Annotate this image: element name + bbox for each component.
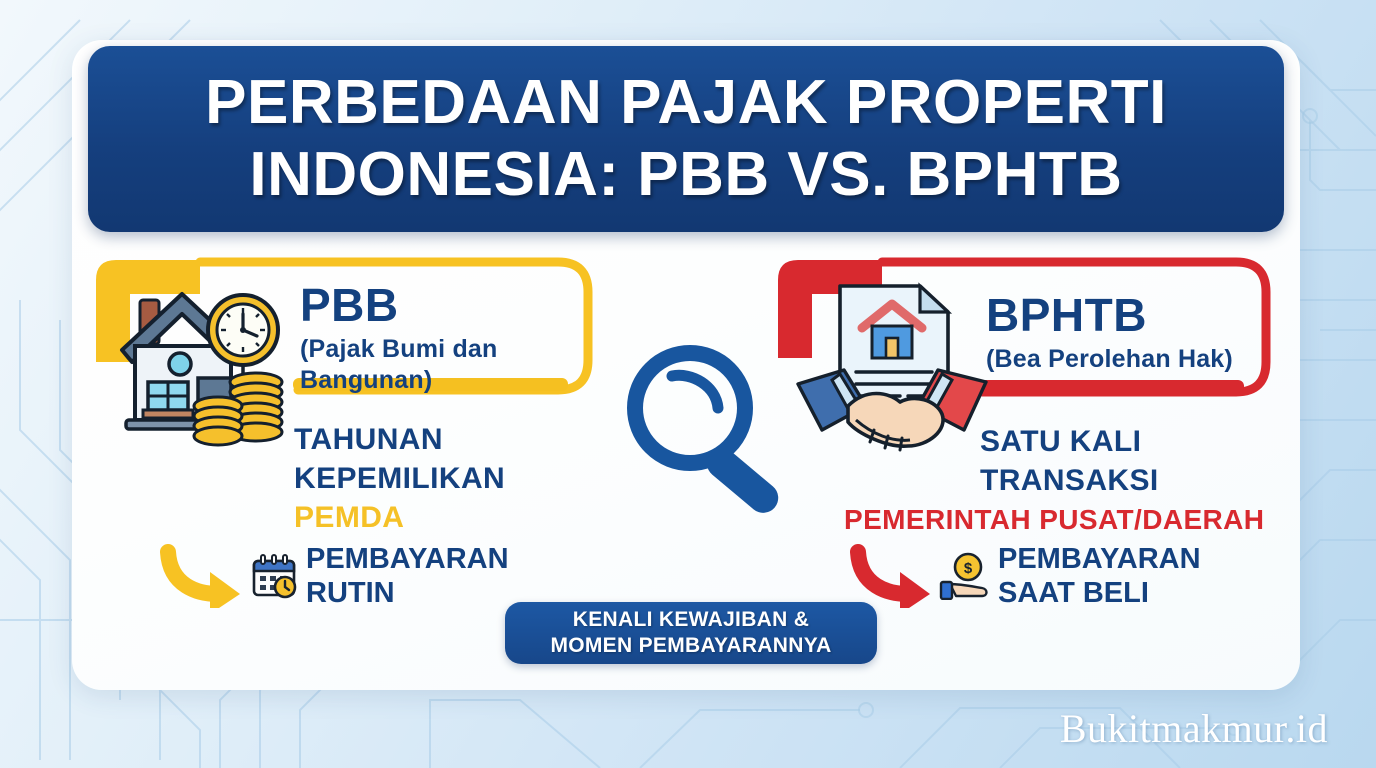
footer-badge-line-2: MOMEN PEMBAYARANNYA — [550, 633, 831, 659]
bphtb-subtitle: (Bea Perolehan Hak) — [986, 344, 1233, 375]
page-title-line-2: INDONESIA: PBB VS. BPHTB — [249, 139, 1122, 211]
pbb-column: PBB (Pajak Bumi dan Bangunan) TAHUNAN KE… — [88, 250, 618, 650]
pbb-payment-line-1: PEMBAYARAN — [306, 542, 509, 576]
pbb-subtitle: (Pajak Bumi dan Bangunan) — [300, 334, 540, 396]
footer-badge-line-1: KENALI KEWAJIBAN & — [573, 607, 809, 633]
pbb-facts-list: TAHUNAN KEPEMILIKAN PEMDA — [294, 420, 505, 537]
footer-badge: KENALI KEWAJIBAN & MOMEN PEMBAYARANNYA — [505, 602, 877, 664]
house-clock-coins-icon — [110, 272, 300, 457]
bphtb-authority: PEMERINTAH PUSAT/DAERAH — [844, 500, 1264, 539]
magnifying-glass-icon — [612, 338, 812, 513]
bphtb-payment-row: $ PEMBAYARAN SAAT BELI — [850, 542, 1201, 610]
bphtb-fact-1: TRANSAKSI — [980, 461, 1159, 500]
svg-text:$: $ — [964, 560, 973, 577]
page-title-line-1: PERBEDAAN PAJAK PROPERTI — [205, 67, 1167, 139]
pbb-fact-2: PEMDA — [294, 498, 505, 537]
bphtb-fact-2: PEMERINTAH PUSAT/DAERAH — [844, 500, 1264, 539]
hand-coin-icon: $ — [938, 552, 992, 600]
calendar-clock-icon — [250, 552, 298, 600]
watermark: Bukitmakmur.id — [1060, 705, 1328, 752]
curved-arrow-right-icon — [160, 544, 242, 608]
bphtb-title-block: BPHTB (Bea Perolehan Hak) — [986, 290, 1233, 375]
pbb-payment-row: PEMBAYARAN RUTIN — [160, 542, 509, 610]
pbb-fact-1: KEPEMILIKAN — [294, 459, 505, 498]
pbb-title: PBB — [300, 280, 540, 330]
bphtb-title: BPHTB — [986, 290, 1233, 340]
bphtb-payment-line-1: PEMBAYARAN — [998, 542, 1201, 576]
pbb-fact-0: TAHUNAN — [294, 420, 505, 459]
bphtb-payment-line-2: SAAT BELI — [998, 576, 1201, 610]
pbb-payment-line-2: RUTIN — [306, 576, 509, 610]
bphtb-column: BPHTB (Bea Perolehan Hak) SATU KALI TRAN… — [770, 250, 1298, 650]
bphtb-facts-list: SATU KALI TRANSAKSI — [980, 422, 1159, 500]
pbb-title-block: PBB (Pajak Bumi dan Bangunan) — [300, 280, 540, 396]
handshake-certificate-icon — [796, 274, 988, 456]
curved-arrow-right-icon — [850, 544, 932, 608]
page-title-banner: PERBEDAAN PAJAK PROPERTI INDONESIA: PBB … — [88, 46, 1284, 232]
bphtb-fact-0: SATU KALI — [980, 422, 1159, 461]
